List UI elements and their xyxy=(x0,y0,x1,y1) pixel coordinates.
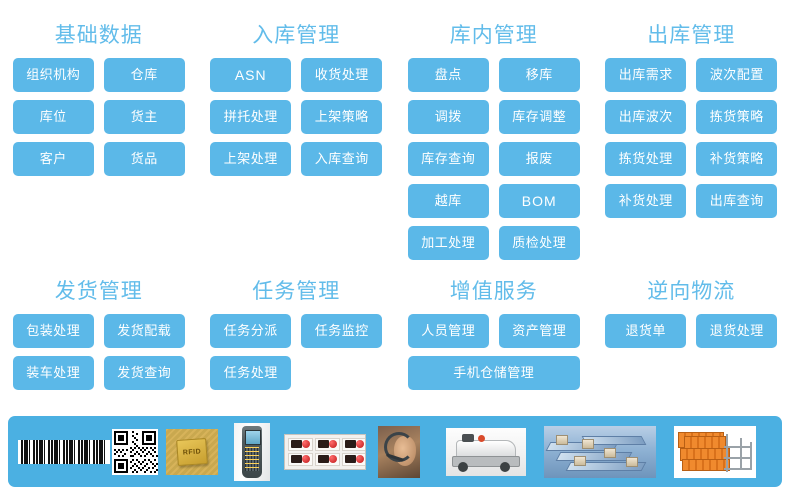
module-title: 入库管理 xyxy=(252,22,340,49)
module-button[interactable]: 退货单 xyxy=(605,314,686,348)
module-button[interactable]: BOM xyxy=(499,184,580,218)
module-button[interactable]: 拣货处理 xyxy=(605,142,686,176)
module-button[interactable]: 出库波次 xyxy=(605,100,686,134)
barcode-image xyxy=(18,440,110,464)
module-button[interactable]: 发货配载 xyxy=(104,314,185,348)
agv-vehicle-image xyxy=(446,428,526,476)
module-button[interactable]: 收货处理 xyxy=(301,58,382,92)
module-button[interactable]: 发货查询 xyxy=(104,356,185,390)
module-shipping-management: 发货管理 包装处理 发货配载 装车处理 发货查询 xyxy=(0,278,198,390)
module-button[interactable]: 拼托处理 xyxy=(210,100,291,134)
module-outbound-management: 出库管理 出库需求 波次配置 出库波次 拣货策略 拣货处理 补货策略 补货处理 … xyxy=(593,22,790,260)
module-button[interactable]: 手机仓储管理 xyxy=(408,356,580,390)
module-button[interactable]: 上架处理 xyxy=(210,142,291,176)
module-button[interactable]: 仓库 xyxy=(104,58,185,92)
module-title: 基础数据 xyxy=(55,22,143,49)
rfid-tag-image: RFID xyxy=(166,429,218,475)
module-button[interactable]: 任务监控 xyxy=(301,314,382,348)
module-button-grid: 包装处理 发货配载 装车处理 发货查询 xyxy=(13,314,185,390)
module-value-added-services: 增值服务 人员管理 资产管理 手机仓储管理 xyxy=(395,278,593,390)
module-button[interactable]: 补货处理 xyxy=(605,184,686,218)
handheld-rf-terminal-image xyxy=(234,423,270,481)
module-title: 任务管理 xyxy=(252,278,340,305)
module-button[interactable]: 加工处理 xyxy=(408,226,489,260)
module-button[interactable]: 调拨 xyxy=(408,100,489,134)
module-button-grid: 组织机构 仓库 库位 货主 客户 货品 xyxy=(13,58,185,176)
module-button[interactable]: 越库 xyxy=(408,184,489,218)
module-button[interactable]: 报废 xyxy=(499,142,580,176)
module-button-grid: 退货单 退货处理 xyxy=(605,314,777,348)
module-reverse-logistics: 逆向物流 退货单 退货处理 xyxy=(593,278,790,390)
module-button-grid: ASN 收货处理 拼托处理 上架策略 上架处理 入库查询 xyxy=(210,58,382,176)
module-button[interactable]: 任务处理 xyxy=(210,356,291,390)
module-button[interactable]: 人员管理 xyxy=(408,314,489,348)
module-button[interactable]: 组织机构 xyxy=(13,58,94,92)
module-inbound-management: 入库管理 ASN 收货处理 拼托处理 上架策略 上架处理 入库查询 xyxy=(198,22,396,260)
module-button[interactable]: 出库需求 xyxy=(605,58,686,92)
rfid-label: RFID xyxy=(176,437,208,465)
module-button[interactable]: ASN xyxy=(210,58,291,92)
module-button[interactable]: 装车处理 xyxy=(13,356,94,390)
module-title: 发货管理 xyxy=(55,278,143,305)
module-in-warehouse-management: 库内管理 盘点 移库 调拨 库存调整 库存查询 报废 越库 BOM 加工处理 质… xyxy=(395,22,593,260)
module-band-bottom: 发货管理 包装处理 发货配载 装车处理 发货查询 任务管理 任务分派 任务监控 … xyxy=(0,278,790,390)
module-button-grid: 任务分派 任务监控 任务处理 xyxy=(210,314,382,390)
module-button-grid: 出库需求 波次配置 出库波次 拣货策略 拣货处理 补货策略 补货处理 出库查询 xyxy=(605,58,777,218)
module-button[interactable]: 质检处理 xyxy=(499,226,580,260)
module-title: 增值服务 xyxy=(450,278,538,305)
module-button[interactable]: 退货处理 xyxy=(696,314,777,348)
module-button[interactable]: 波次配置 xyxy=(696,58,777,92)
pick-to-light-panel-image xyxy=(284,434,366,470)
module-button[interactable]: 库存查询 xyxy=(408,142,489,176)
pallet-racking-image xyxy=(674,426,756,478)
module-button[interactable]: 移库 xyxy=(499,58,580,92)
wms-module-map: 基础数据 组织机构 仓库 库位 货主 客户 货品 入库管理 ASN 收货处理 拼… xyxy=(0,0,790,503)
module-button[interactable]: 盘点 xyxy=(408,58,489,92)
qr-code-image xyxy=(112,429,158,475)
module-title: 逆向物流 xyxy=(647,278,735,305)
module-button[interactable]: 上架策略 xyxy=(301,100,382,134)
module-button-grid: 盘点 移库 调拨 库存调整 库存查询 报废 越库 BOM 加工处理 质检处理 xyxy=(408,58,580,260)
voice-picking-headset-image xyxy=(378,426,420,478)
module-button[interactable]: 包装处理 xyxy=(13,314,94,348)
module-button[interactable]: 库存调整 xyxy=(499,100,580,134)
conveyor-sortation-image xyxy=(544,426,656,478)
module-button[interactable]: 出库查询 xyxy=(696,184,777,218)
module-button[interactable]: 货主 xyxy=(104,100,185,134)
module-button[interactable]: 资产管理 xyxy=(499,314,580,348)
module-title: 库内管理 xyxy=(450,22,538,49)
module-button[interactable]: 库位 xyxy=(13,100,94,134)
module-button[interactable]: 补货策略 xyxy=(696,142,777,176)
module-button[interactable]: 入库查询 xyxy=(301,142,382,176)
module-button[interactable]: 拣货策略 xyxy=(696,100,777,134)
module-task-management: 任务管理 任务分派 任务监控 任务处理 xyxy=(198,278,396,390)
module-title: 出库管理 xyxy=(647,22,735,49)
module-button-grid: 人员管理 资产管理 手机仓储管理 xyxy=(408,314,580,390)
module-band-top: 基础数据 组织机构 仓库 库位 货主 客户 货品 入库管理 ASN 收货处理 拼… xyxy=(0,22,790,260)
module-button[interactable]: 客户 xyxy=(13,142,94,176)
module-basic-data: 基础数据 组织机构 仓库 库位 货主 客户 货品 xyxy=(0,22,198,260)
module-button[interactable]: 货品 xyxy=(104,142,185,176)
module-button[interactable]: 任务分派 xyxy=(210,314,291,348)
technology-image-banner: RFID xyxy=(8,416,782,487)
